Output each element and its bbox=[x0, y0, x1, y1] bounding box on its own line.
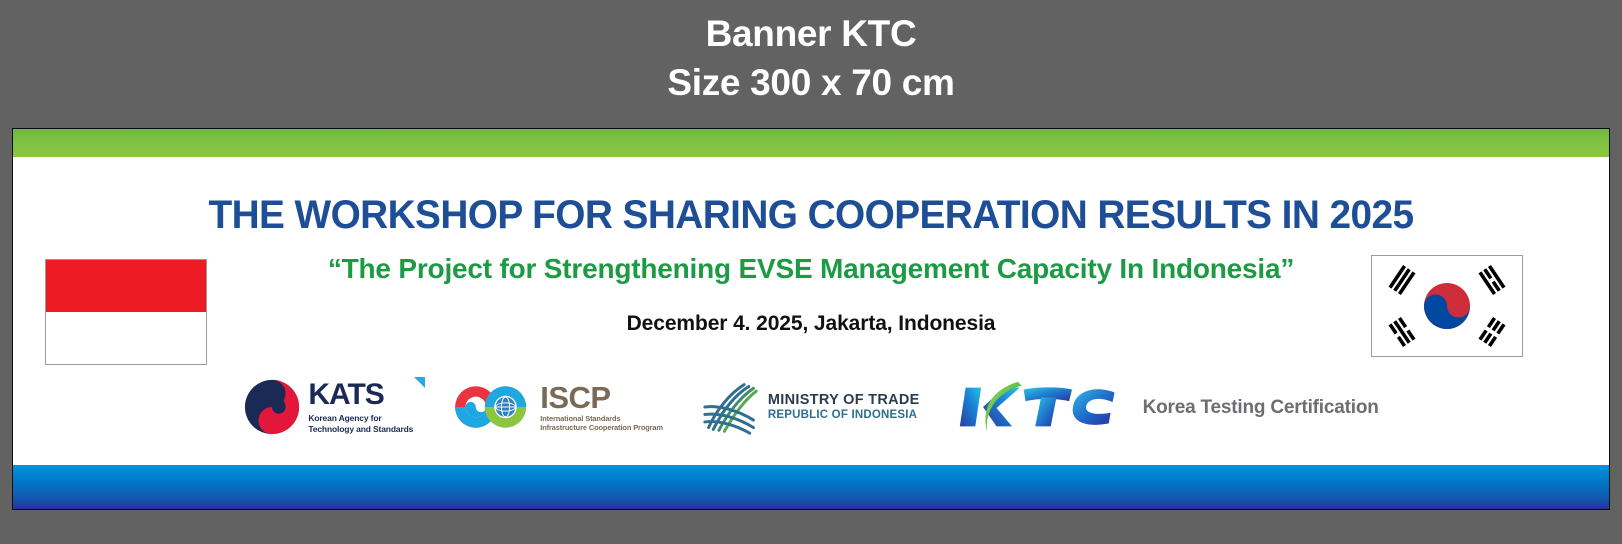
ktc-gradient-wordmark-icon bbox=[958, 378, 1126, 436]
caption-size: Size 300 x 70 cm bbox=[0, 59, 1622, 108]
banner-title: THE WORKSHOP FOR SHARING COOPERATION RES… bbox=[37, 195, 1585, 235]
iscp-tagline-line2: Infrastructure Cooperation Program bbox=[540, 424, 663, 433]
ministry-of-trade-line2: REPUBLIC OF INDONESIA bbox=[768, 409, 920, 422]
banner-artboard: THE WORKSHOP FOR SHARING COOPERATION RES… bbox=[12, 128, 1610, 510]
kats-accent-icon bbox=[413, 376, 426, 389]
banner-bottom-blue-band bbox=[13, 465, 1609, 509]
banner-spec-caption: Banner KTC Size 300 x 70 cm bbox=[0, 0, 1622, 128]
banner-subtitle: “The Project for Strengthening EVSE Mana… bbox=[13, 255, 1609, 283]
iscp-wordmark: ISCP bbox=[540, 382, 663, 413]
infinity-globe-icon bbox=[451, 380, 533, 434]
ministry-of-trade-logo: MINISTRY OF TRADE REPUBLIC OF INDONESIA bbox=[701, 376, 920, 438]
kats-tagline: Korean Agency for Technology and Standar… bbox=[308, 413, 413, 433]
kats-logo: KATS Korean Agency for Technology and St… bbox=[243, 376, 413, 438]
ministry-of-trade-line1: MINISTRY OF TRADE bbox=[768, 392, 920, 408]
kats-tagline-line2: Technology and Standards bbox=[308, 424, 413, 434]
banner-date-location: December 4. 2025, Jakarta, Indonesia bbox=[13, 313, 1609, 334]
kats-wordmark: KATS bbox=[308, 380, 413, 410]
iscp-tagline: International Standards Infrastructure C… bbox=[540, 415, 663, 433]
banner-top-green-band bbox=[13, 129, 1609, 157]
kats-tagline-line1: Korean Agency for bbox=[308, 413, 413, 423]
partner-logo-row: KATS Korean Agency for Technology and St… bbox=[13, 372, 1609, 442]
ktc-logo: Korea Testing Certification bbox=[958, 376, 1379, 438]
iscp-logo: ISCP International Standards Infrastruct… bbox=[451, 376, 663, 438]
taegeuk-swirl-icon bbox=[243, 378, 301, 436]
iscp-logo-text: ISCP International Standards Infrastruct… bbox=[540, 382, 663, 433]
kats-wordmark-label: KATS bbox=[308, 378, 383, 411]
kats-logo-text: KATS Korean Agency for Technology and St… bbox=[308, 380, 413, 433]
ministry-of-trade-text: MINISTRY OF TRADE REPUBLIC OF INDONESIA bbox=[768, 392, 920, 421]
caption-title: Banner KTC bbox=[0, 10, 1622, 59]
woven-wheat-icon bbox=[701, 379, 761, 435]
ktc-tagline: Korea Testing Certification bbox=[1143, 398, 1379, 417]
